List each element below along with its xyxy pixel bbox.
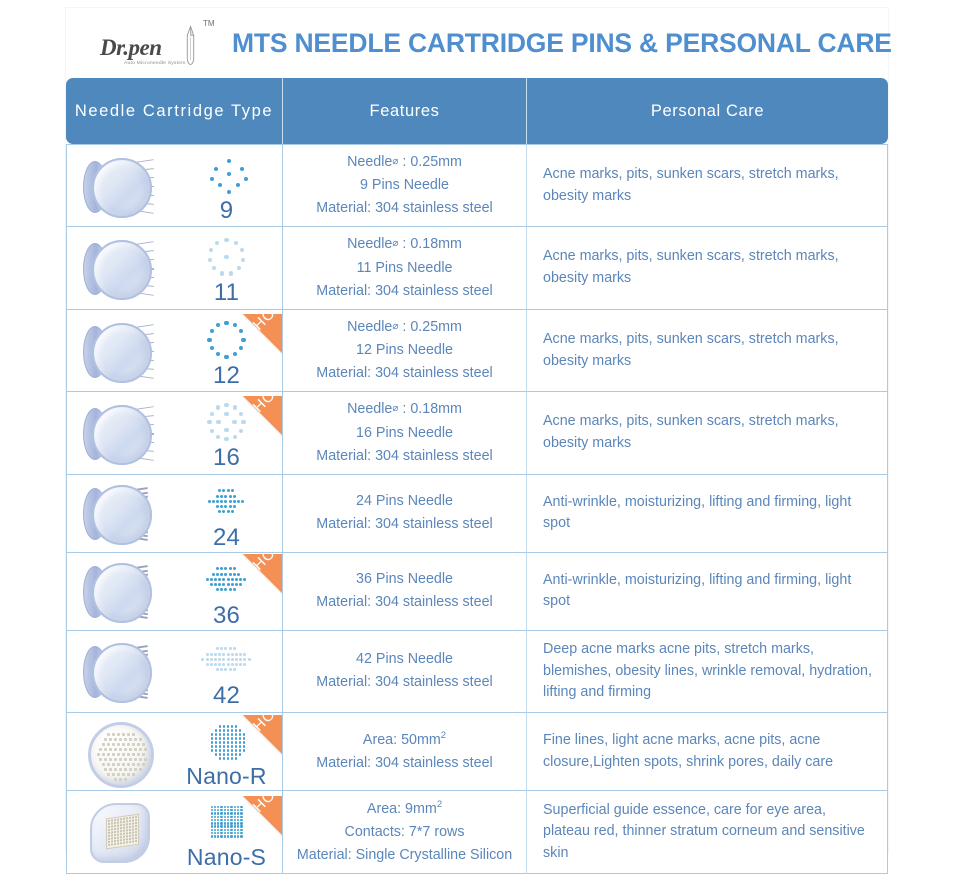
column-header-features: Features xyxy=(283,78,527,144)
personal-care-cell: Anti-wrinkle, moisturizing, lifting and … xyxy=(527,475,888,553)
pin-pattern: 9 xyxy=(171,149,282,223)
cartridge-image xyxy=(66,475,171,553)
brand-tagline: Auto Microneedle System xyxy=(124,60,186,66)
pin-pattern-cell: 42 xyxy=(171,631,283,713)
features-cell: Needle⌀ : 0.25mm12 Pins NeedleMaterial: … xyxy=(283,310,527,392)
features-cell: Needle⌀ : 0.18mm16 Pins NeedleMaterial: … xyxy=(283,392,527,474)
pin-pattern-cell: HOT36 xyxy=(171,553,283,631)
pin-pattern-cell: 11 xyxy=(171,227,283,309)
personal-care-text: Deep acne marks acne pits, stretch marks… xyxy=(527,631,887,712)
feature-line: Area: 50mm2 xyxy=(291,728,518,752)
feature-line: Needle⌀ : 0.18mm xyxy=(291,233,518,256)
table-header-row: Needle Cartridge Type Features Personal … xyxy=(66,78,888,144)
pin-pattern: HOT12 xyxy=(171,314,282,388)
cartridge-image xyxy=(66,227,171,309)
feature-line: 16 Pins Needle xyxy=(291,422,518,445)
page-title: MTS NEEDLE CARTRIDGE PINS & PERSONAL CAR… xyxy=(232,28,892,59)
pin-count-label: 16 xyxy=(213,446,240,470)
pin-pattern: 42 xyxy=(171,634,282,708)
column-header-type: Needle Cartridge Type xyxy=(66,78,283,144)
feature-line: Needle⌀ : 0.25mm xyxy=(291,316,518,339)
pin-count-label: 36 xyxy=(213,604,240,628)
pin-count-label: 11 xyxy=(214,281,239,305)
personal-care-text: Fine lines, light acne marks, acne pits,… xyxy=(527,722,887,781)
title-bar: Dr.pen Auto Microneedle System TM MTS NE… xyxy=(66,8,888,78)
feature-line: 11 Pins Needle xyxy=(291,257,518,280)
pin-pattern: HOTNano-R xyxy=(171,715,282,788)
table-row: HOT12Needle⌀ : 0.25mm12 Pins NeedleMater… xyxy=(66,310,888,392)
feature-line: Needle⌀ : 0.25mm xyxy=(291,151,518,174)
personal-care-cell: Superficial guide essence, care for eye … xyxy=(527,791,888,874)
personal-care-cell: Anti-wrinkle, moisturizing, lifting and … xyxy=(527,553,888,631)
feature-line: 42 Pins Needle xyxy=(291,648,518,671)
feature-line: Material: 304 stainless steel xyxy=(291,591,518,614)
pin-pattern-cell: HOTNano-S xyxy=(171,791,283,874)
cartridge-image xyxy=(66,144,171,227)
personal-care-cell: Acne marks, pits, sunken scars, stretch … xyxy=(527,227,888,309)
feature-line: 12 Pins Needle xyxy=(291,339,518,362)
pin-count-label: 12 xyxy=(213,364,240,388)
personal-care-cell: Acne marks, pits, sunken scars, stretch … xyxy=(527,392,888,474)
feature-line: Material: 304 stainless steel xyxy=(291,513,518,536)
personal-care-cell: Deep acne marks acne pits, stretch marks… xyxy=(527,631,888,713)
table-row: HOTNano-RArea: 50mm2Material: 304 stainl… xyxy=(66,713,888,791)
pin-count-label: Nano-R xyxy=(186,765,266,788)
table-row: 2424 Pins NeedleMaterial: 304 stainless … xyxy=(66,475,888,553)
cartridge-image xyxy=(66,310,171,392)
feature-line: Material: Single Crystalline Silicon xyxy=(291,844,518,867)
pin-pattern-cell: 24 xyxy=(171,475,283,553)
table-row: 9Needle⌀ : 0.25mm9 Pins NeedleMaterial: … xyxy=(66,144,888,227)
personal-care-text: Superficial guide essence, care for eye … xyxy=(527,792,887,873)
feature-line: Material: 304 stainless steel xyxy=(291,280,518,303)
feature-line: 9 Pins Needle xyxy=(291,174,518,197)
table-row: HOT16Needle⌀ : 0.18mm16 Pins NeedleMater… xyxy=(66,392,888,474)
pin-pattern-cell: HOT16 xyxy=(171,392,283,474)
feature-line: Area: 9mm2 xyxy=(291,797,518,821)
table-body: 9Needle⌀ : 0.25mm9 Pins NeedleMaterial: … xyxy=(66,144,888,874)
feature-line: Needle⌀ : 0.18mm xyxy=(291,398,518,421)
pin-count-label: Nano-S xyxy=(187,846,266,869)
column-header-care: Personal Care xyxy=(527,78,888,144)
brand-name: Dr.pen xyxy=(100,35,162,61)
features-cell: Needle⌀ : 0.25mm9 Pins NeedleMaterial: 3… xyxy=(283,144,527,227)
pin-count-label: 24 xyxy=(213,526,240,550)
pin-pattern: HOTNano-S xyxy=(171,796,282,869)
pin-pattern: 24 xyxy=(171,476,282,550)
brand-logo: Dr.pen Auto Microneedle System TM xyxy=(100,17,222,69)
page-root: Dr.pen Auto Microneedle System TM MTS NE… xyxy=(0,0,972,853)
pin-pattern: HOT36 xyxy=(171,554,282,628)
pin-count-label: 9 xyxy=(220,199,234,223)
personal-care-cell: Fine lines, light acne marks, acne pits,… xyxy=(527,713,888,791)
feature-line: 24 Pins Needle xyxy=(291,490,518,513)
features-cell: 36 Pins NeedleMaterial: 304 stainless st… xyxy=(283,553,527,631)
cartridge-image xyxy=(66,553,171,631)
table-row: HOT3636 Pins NeedleMaterial: 304 stainle… xyxy=(66,553,888,631)
pin-pattern-cell: HOTNano-R xyxy=(171,713,283,791)
pin-pattern: HOT16 xyxy=(171,396,282,470)
pin-count-label: 42 xyxy=(213,684,240,708)
cartridge-image xyxy=(66,392,171,474)
personal-care-text: Acne marks, pits, sunken scars, stretch … xyxy=(527,238,887,297)
pin-pattern-cell: 9 xyxy=(171,144,283,227)
product-spec-sheet: Dr.pen Auto Microneedle System TM MTS NE… xyxy=(66,8,888,853)
table-row: HOTNano-SArea: 9mm2Contacts: 7*7 rowsMat… xyxy=(66,791,888,874)
pin-pattern: 11 xyxy=(171,231,282,305)
pen-icon xyxy=(184,25,197,67)
features-cell: Area: 9mm2Contacts: 7*7 rowsMaterial: Si… xyxy=(283,791,527,874)
personal-care-cell: Acne marks, pits, sunken scars, stretch … xyxy=(527,310,888,392)
personal-care-text: Anti-wrinkle, moisturizing, lifting and … xyxy=(527,484,887,543)
features-cell: 24 Pins NeedleMaterial: 304 stainless st… xyxy=(283,475,527,553)
feature-line: Material: 304 stainless steel xyxy=(291,197,518,220)
cartridge-image xyxy=(66,713,171,791)
feature-line: Contacts: 7*7 rows xyxy=(291,821,518,844)
cartridge-image xyxy=(66,791,171,874)
personal-care-text: Acne marks, pits, sunken scars, stretch … xyxy=(527,403,887,462)
table-row: 11Needle⌀ : 0.18mm11 Pins NeedleMaterial… xyxy=(66,227,888,309)
feature-line: Material: 304 stainless steel xyxy=(291,445,518,468)
personal-care-cell: Acne marks, pits, sunken scars, stretch … xyxy=(527,144,888,227)
cartridge-image xyxy=(66,631,171,713)
personal-care-text: Acne marks, pits, sunken scars, stretch … xyxy=(527,321,887,380)
features-cell: Needle⌀ : 0.18mm11 Pins NeedleMaterial: … xyxy=(283,227,527,309)
personal-care-text: Anti-wrinkle, moisturizing, lifting and … xyxy=(527,562,887,621)
features-cell: Area: 50mm2Material: 304 stainless steel xyxy=(283,713,527,791)
pin-pattern-cell: HOT12 xyxy=(171,310,283,392)
features-cell: 42 Pins NeedleMaterial: 304 stainless st… xyxy=(283,631,527,713)
feature-line: Material: 304 stainless steel xyxy=(291,671,518,694)
feature-line: Material: 304 stainless steel xyxy=(291,752,518,775)
spec-table: Needle Cartridge Type Features Personal … xyxy=(66,78,888,874)
trademark-symbol: TM xyxy=(203,19,215,28)
feature-line: 36 Pins Needle xyxy=(291,568,518,591)
table-row: 4242 Pins NeedleMaterial: 304 stainless … xyxy=(66,631,888,713)
personal-care-text: Acne marks, pits, sunken scars, stretch … xyxy=(527,156,887,215)
feature-line: Material: 304 stainless steel xyxy=(291,362,518,385)
